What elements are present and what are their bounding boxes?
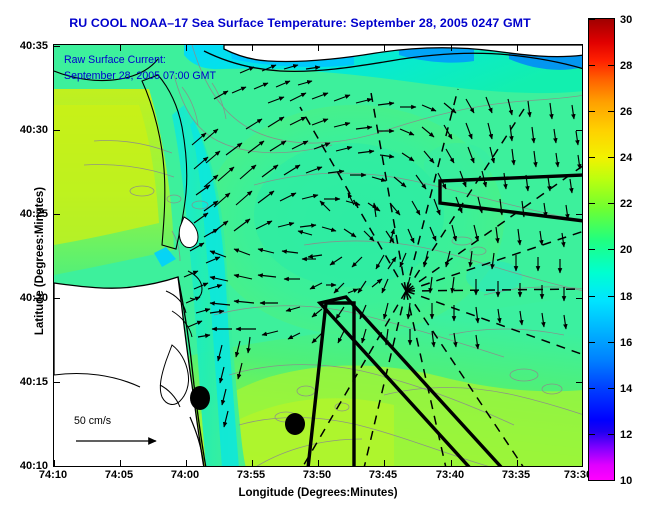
xtick-1 bbox=[120, 460, 121, 466]
cbar-label-10: 10 bbox=[620, 475, 632, 487]
ytick-3 bbox=[54, 214, 60, 215]
xtick-label-7: 73:35 bbox=[502, 469, 530, 481]
cbar-label-20: 20 bbox=[620, 244, 632, 256]
cbar-label-16: 16 bbox=[620, 337, 632, 349]
ytick-1 bbox=[54, 382, 60, 383]
colorbar[interactable] bbox=[588, 18, 615, 481]
ytick-right-4 bbox=[576, 130, 582, 131]
xtick-label-3: 73:55 bbox=[237, 469, 265, 481]
cbar-label-22: 22 bbox=[620, 198, 632, 210]
ytick-label-5: 40:35 bbox=[4, 40, 48, 52]
cbar-label-28: 28 bbox=[620, 60, 632, 72]
xtick-4 bbox=[318, 460, 319, 466]
xtick-top-6 bbox=[451, 45, 452, 51]
annotation-line-1: Raw Surface Current: bbox=[64, 54, 166, 66]
cbar-label-12: 12 bbox=[620, 429, 632, 441]
station-marker-2 bbox=[285, 413, 305, 435]
ytick-label-1: 40:15 bbox=[4, 376, 48, 388]
xtick-2 bbox=[186, 460, 187, 466]
xtick-label-5: 73:45 bbox=[369, 469, 397, 481]
ytick-right-3 bbox=[576, 214, 582, 215]
xtick-7 bbox=[517, 460, 518, 466]
xtick-label-4: 73:50 bbox=[303, 469, 331, 481]
ytick-5 bbox=[54, 46, 60, 47]
x-axis-title: Longitude (Degrees:Minutes) bbox=[53, 487, 583, 499]
ytick-label-4: 40:30 bbox=[4, 124, 48, 136]
xtick-top-3 bbox=[252, 45, 253, 51]
ytick-right-1 bbox=[576, 382, 582, 383]
xtick-6 bbox=[451, 460, 452, 466]
cbar-label-24: 24 bbox=[620, 152, 632, 164]
xtick-top-4 bbox=[318, 45, 319, 51]
xtick-label-6: 73:40 bbox=[436, 469, 464, 481]
figure-canvas: RU COOL NOAA–17 Sea Surface Temperature:… bbox=[0, 0, 651, 518]
xtick-label-2: 74:00 bbox=[171, 469, 199, 481]
station-marker-1 bbox=[190, 386, 210, 410]
y-axis-title: Latitude (Degrees:Minutes) bbox=[34, 161, 46, 361]
cbar-label-30: 30 bbox=[620, 14, 632, 26]
annotation-line-2: September 28, 2005 07:00 GMT bbox=[64, 70, 216, 82]
ytick-label-0: 40:10 bbox=[4, 460, 48, 472]
xtick-top-5 bbox=[384, 45, 385, 51]
vector-scale-arrow bbox=[72, 417, 168, 453]
page-title: RU COOL NOAA–17 Sea Surface Temperature:… bbox=[0, 16, 600, 30]
xtick-label-1: 74:05 bbox=[105, 469, 133, 481]
xtick-3 bbox=[252, 460, 253, 466]
ytick-right-2 bbox=[576, 298, 582, 299]
map-plot-area[interactable]: Raw Surface Current: September 28, 2005 … bbox=[53, 44, 583, 467]
cbar-label-14: 14 bbox=[620, 383, 632, 395]
cbar-label-26: 26 bbox=[620, 106, 632, 118]
map-clip: Raw Surface Current: September 28, 2005 … bbox=[54, 45, 582, 466]
cbar-label-18: 18 bbox=[620, 291, 632, 303]
xtick-top-2 bbox=[186, 45, 187, 51]
xtick-5 bbox=[384, 460, 385, 466]
sst-map-svg bbox=[54, 45, 582, 466]
xtick-top-7 bbox=[517, 45, 518, 51]
ytick-2 bbox=[54, 298, 60, 299]
ytick-4 bbox=[54, 130, 60, 131]
xtick-top-1 bbox=[120, 45, 121, 51]
